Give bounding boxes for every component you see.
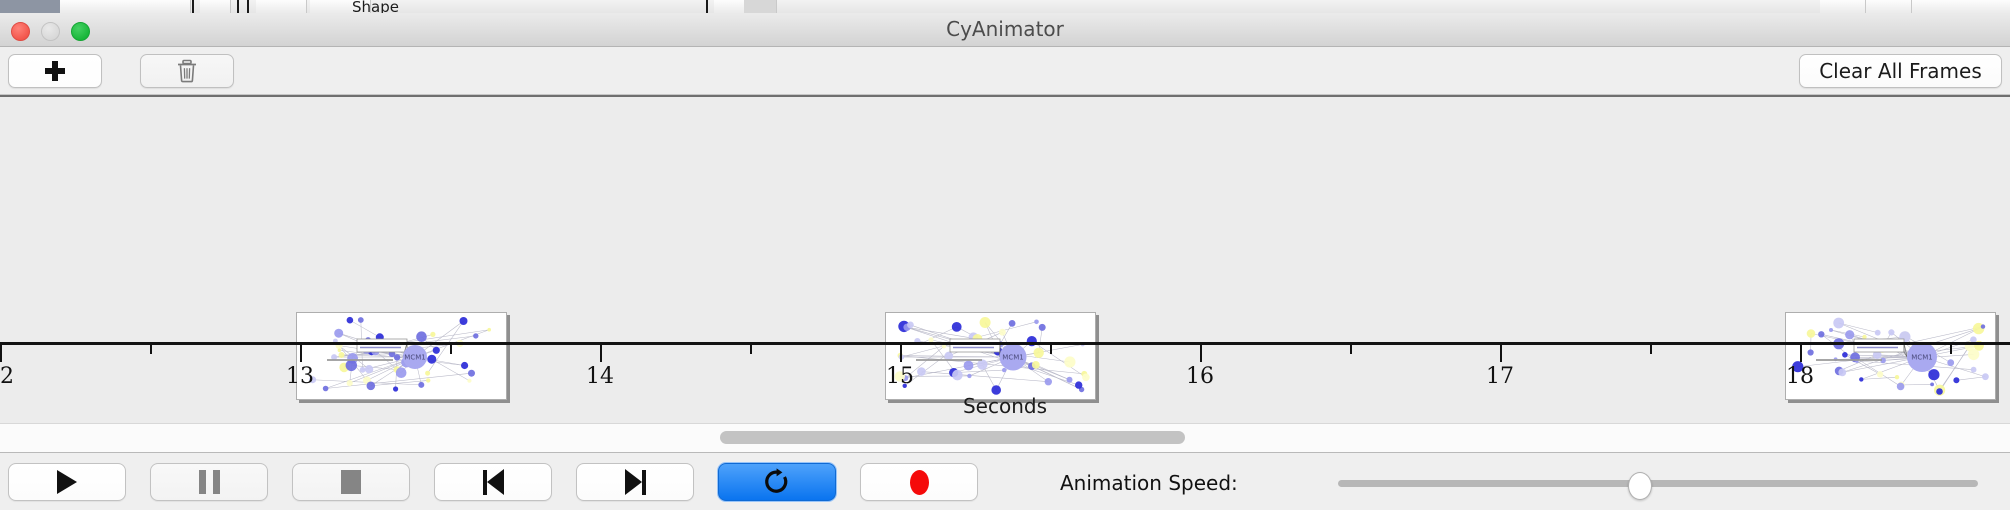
cyanimator-window: CyAnimator Clear All Frames MCM1MCM1MCM1… bbox=[0, 13, 2010, 510]
bg-partial-label: Shape bbox=[352, 0, 399, 13]
window-titlebar: CyAnimator bbox=[0, 13, 2010, 47]
play-icon bbox=[57, 470, 77, 494]
pause-icon bbox=[199, 470, 220, 494]
axis-tick-label: 17 bbox=[1486, 364, 1514, 389]
last-frame-button[interactable] bbox=[576, 463, 694, 501]
axis-tick-label: 16 bbox=[1186, 364, 1214, 389]
bg-chip bbox=[145, 0, 191, 13]
bg-chip bbox=[1912, 0, 2010, 13]
stop-button[interactable] bbox=[292, 463, 410, 501]
skip-forward-icon bbox=[625, 469, 646, 495]
bg-chip bbox=[744, 0, 777, 13]
axis-tick-label: 18 bbox=[1786, 364, 1814, 389]
plus-icon bbox=[45, 61, 65, 81]
slider-thumb[interactable] bbox=[1628, 472, 1652, 500]
bg-tick bbox=[237, 0, 239, 13]
axis-tick-label: 12 bbox=[0, 364, 14, 389]
axis-tick-minor bbox=[1350, 345, 1352, 354]
record-icon bbox=[910, 470, 929, 495]
background-window-strip: Shape bbox=[0, 0, 2010, 13]
animation-speed-label: Animation Speed: bbox=[1060, 453, 1238, 510]
bg-tick bbox=[192, 0, 194, 13]
axis-tick-major bbox=[300, 345, 302, 362]
play-button[interactable] bbox=[8, 463, 126, 501]
axis-tick-major bbox=[0, 345, 2, 362]
axis-tick-minor bbox=[150, 345, 152, 354]
axis-tick-major bbox=[900, 345, 902, 362]
axis-tick-minor bbox=[1650, 345, 1652, 354]
axis-caption: Seconds bbox=[0, 394, 2010, 418]
timeline-scrollbar-thumb[interactable] bbox=[720, 431, 1185, 444]
add-frame-button[interactable] bbox=[8, 54, 102, 88]
axis-tick-minor bbox=[1050, 345, 1052, 354]
axis-tick-minor bbox=[450, 345, 452, 354]
bg-chip bbox=[60, 0, 146, 13]
axis-tick-major bbox=[1500, 345, 1502, 362]
bg-chip bbox=[1866, 0, 1912, 13]
delete-frame-button[interactable] bbox=[140, 54, 234, 88]
slider-track bbox=[1338, 480, 1978, 487]
timeline-scrollbar[interactable] bbox=[0, 423, 2010, 453]
toolbar: Clear All Frames bbox=[0, 47, 2010, 95]
timeline-axis: 12131415161718 Seconds bbox=[0, 342, 2010, 423]
bg-chip bbox=[1820, 0, 1866, 13]
axis-tick-label: 14 bbox=[586, 364, 614, 389]
axis-tick-minor bbox=[750, 345, 752, 354]
first-frame-button[interactable] bbox=[434, 463, 552, 501]
frames-area[interactable]: MCM1MCM1MCM1 bbox=[0, 97, 2010, 344]
bg-tick bbox=[706, 0, 708, 13]
animation-speed-slider[interactable] bbox=[1338, 453, 1978, 510]
bg-tick bbox=[247, 0, 249, 13]
axis-tick-minor bbox=[1950, 345, 1952, 354]
axis-tick-major bbox=[1200, 345, 1202, 362]
bg-chip bbox=[714, 0, 745, 13]
bg-chip bbox=[0, 0, 61, 13]
window-title: CyAnimator bbox=[0, 13, 2010, 46]
timeline-panel[interactable]: MCM1MCM1MCM1 12131415161718 Seconds bbox=[0, 95, 2010, 423]
axis-tick-major bbox=[600, 345, 602, 362]
clear-all-frames-label: Clear All Frames bbox=[1819, 59, 1982, 83]
bg-chip bbox=[200, 0, 231, 13]
pause-button[interactable] bbox=[150, 463, 268, 501]
record-button[interactable] bbox=[860, 463, 978, 501]
transport-bar: Animation Speed: bbox=[0, 453, 2010, 510]
loop-icon bbox=[764, 468, 790, 496]
clear-all-frames-button[interactable]: Clear All Frames bbox=[1799, 54, 2002, 88]
axis-tick-major bbox=[1800, 345, 1802, 362]
trash-icon bbox=[176, 59, 198, 83]
loop-button[interactable] bbox=[718, 463, 836, 501]
skip-back-icon bbox=[483, 469, 504, 495]
axis-tick-label: 15 bbox=[886, 364, 914, 389]
stop-icon bbox=[341, 470, 361, 494]
bg-chip bbox=[256, 0, 307, 13]
axis-tick-label: 13 bbox=[286, 364, 314, 389]
